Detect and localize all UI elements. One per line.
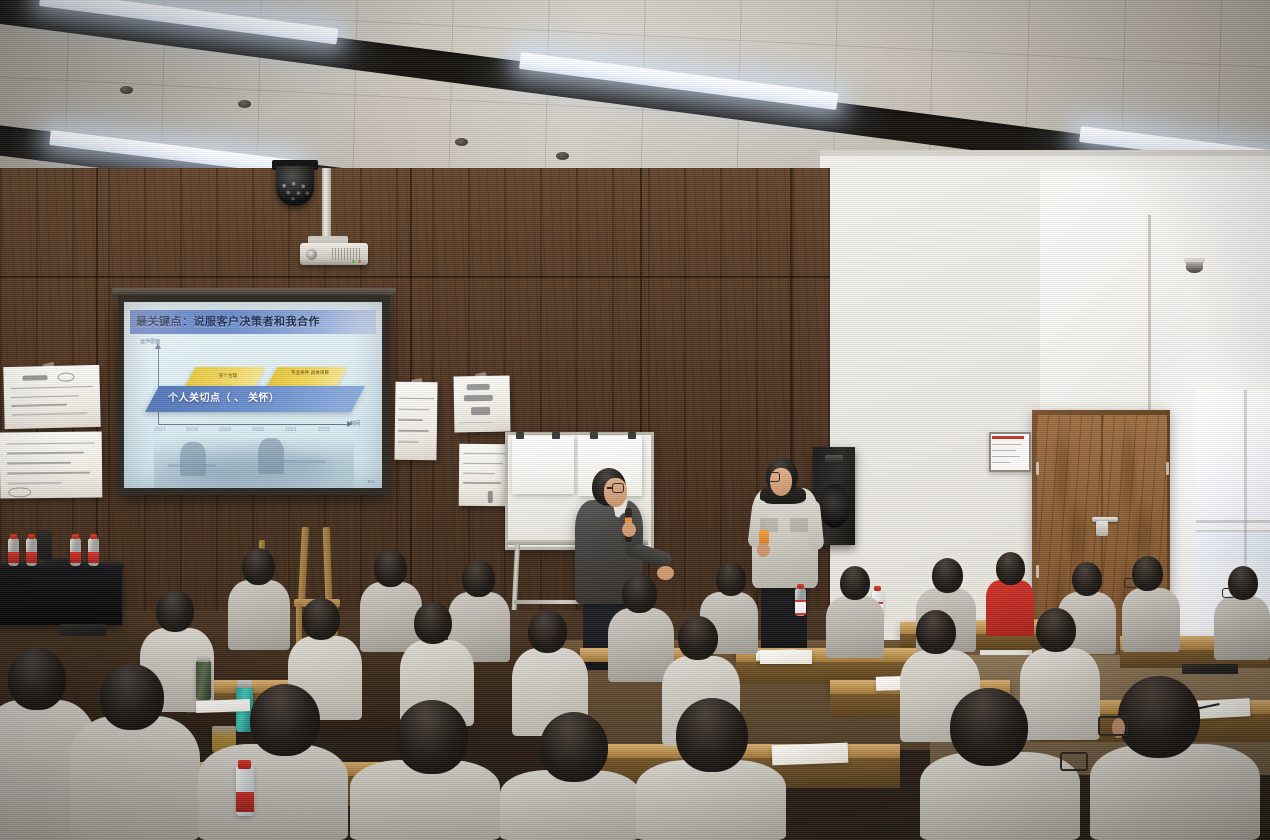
- whiteboard-sheet: [512, 436, 574, 494]
- audience-member: [1090, 744, 1260, 840]
- audience-member: [920, 752, 1080, 840]
- audience-head: [8, 648, 66, 710]
- projection-screen: 最关键点：说服客户决策者和我合作 运作层面 时间 2017 2018 2019 …: [124, 302, 382, 488]
- presenter-1-glasses: [612, 483, 624, 493]
- projector-vent: [332, 248, 362, 260]
- notice-line: [992, 450, 1016, 451]
- whiteboard-clip[interactable]: [628, 432, 636, 439]
- audience-head: [1118, 676, 1200, 758]
- front-table: [0, 565, 122, 625]
- thermos-cap: [197, 655, 210, 662]
- audience-member: [70, 716, 200, 840]
- slide-photo-chair: [280, 460, 326, 463]
- wall-trim: [820, 150, 1270, 156]
- speaker-woofer-icon: [819, 484, 850, 528]
- audience-head: [622, 574, 657, 613]
- audience-glasses: [1124, 578, 1137, 588]
- notebook[interactable]: [760, 650, 812, 664]
- audience-head: [932, 558, 963, 593]
- projector-status-led: [358, 260, 361, 263]
- bottle-label: [70, 552, 81, 563]
- chart-x-axis-label: 时间: [350, 420, 360, 427]
- thermos-cap: [237, 680, 252, 688]
- audience-head: [840, 566, 870, 600]
- projector-power-led: [352, 260, 355, 263]
- audience-head: [916, 610, 956, 654]
- audience-member: [198, 744, 348, 840]
- audience-member: [360, 582, 422, 652]
- audience-glasses: [1098, 716, 1128, 736]
- whiteboard-clip[interactable]: [590, 432, 598, 439]
- audience-head: [716, 562, 746, 596]
- list-item: [459, 444, 512, 506]
- list-item: [394, 382, 437, 461]
- bottle-cap: [238, 760, 251, 769]
- whiteboard-clip[interactable]: [516, 432, 524, 439]
- orange-marker[interactable]: [759, 530, 769, 544]
- audience-head: [242, 548, 275, 585]
- presenter-1-hand: [657, 566, 674, 580]
- bottle-cap: [10, 534, 17, 539]
- notice-line: [992, 444, 1022, 445]
- window-blind: [1196, 390, 1270, 532]
- audience-member: [1122, 588, 1180, 652]
- bottle-label: [8, 552, 19, 563]
- door-lock-plate: [1096, 521, 1108, 536]
- bottle-label: [236, 792, 254, 812]
- audience-head: [1072, 562, 1102, 596]
- audience-head: [462, 560, 495, 597]
- notebook[interactable]: [772, 743, 849, 766]
- audience-head: [414, 602, 452, 644]
- audience-head: [676, 698, 748, 772]
- microphone-stand: [38, 530, 52, 560]
- projector-lens-icon: [306, 249, 317, 260]
- chart-plate-label: 买个合理: [202, 373, 254, 379]
- led-ball-light-icon: [276, 166, 314, 206]
- window-mullion: [1196, 520, 1270, 523]
- audience-member-red-hoodie: [986, 580, 1034, 636]
- audience-head: [950, 688, 1028, 766]
- audience-member: [636, 760, 786, 840]
- audience-member: [1214, 596, 1270, 660]
- list-item: [3, 365, 100, 429]
- paper-stack: [196, 699, 250, 713]
- audience-glasses: [1060, 752, 1088, 771]
- audience-member: [1020, 648, 1100, 740]
- slide-photo-chair: [168, 464, 216, 467]
- presenter-2-glasses: [768, 472, 780, 482]
- thermos[interactable]: [196, 660, 211, 700]
- panel-seam: [0, 276, 830, 278]
- audience-head: [996, 552, 1025, 585]
- bottle-label: [795, 600, 806, 615]
- ceiling-downlight: [556, 152, 569, 160]
- chart-band-label: 个人关切点（ 、 关怀）: [168, 389, 368, 404]
- audience-head: [302, 598, 340, 640]
- audience-member: [826, 596, 884, 658]
- bottle-cap: [28, 534, 35, 539]
- slide-background-photo: [154, 430, 354, 488]
- projected-slide: 最关键点：说服客户决策者和我合作 运作层面 时间 2017 2018 2019 …: [124, 302, 382, 488]
- audience-head: [156, 590, 194, 632]
- ceiling-downlight: [238, 100, 251, 108]
- audience-head: [396, 700, 468, 774]
- audience-head: [528, 610, 567, 653]
- door-hinge: [1036, 462, 1039, 475]
- ceiling-downlight: [455, 138, 468, 146]
- bottle-label: [88, 552, 99, 563]
- ceiling-downlight: [120, 86, 133, 94]
- notebook-dark-cover[interactable]: [60, 624, 106, 636]
- notice-line: [992, 456, 1020, 457]
- presenter-2-pocket: [790, 518, 808, 532]
- audience-head: [374, 550, 407, 587]
- chart-plate-label: 专业条件 具体项目: [284, 370, 336, 376]
- audience-head: [100, 664, 164, 730]
- photo-scene: 最关键点：说服客户决策者和我合作 运作层面 时间 2017 2018 2019 …: [0, 0, 1270, 840]
- audience-head: [678, 616, 718, 660]
- slide-photo-figure: [258, 438, 284, 474]
- bottle-cap: [797, 584, 804, 589]
- slide-photo-figure: [180, 442, 206, 476]
- projector-pole: [322, 168, 331, 242]
- audience-glasses: [1222, 588, 1235, 598]
- bottle-cap: [874, 586, 881, 591]
- presenter-2-hand: [757, 543, 770, 557]
- slide-page-number: 8-3: [368, 479, 374, 484]
- dome-camera-icon: [1186, 262, 1203, 273]
- notice-line: [992, 462, 1010, 463]
- presenter-1-hand: [622, 522, 636, 537]
- notice-heading: [992, 436, 1024, 439]
- audience-head: [540, 712, 608, 782]
- audience-member: [608, 608, 674, 682]
- door-hinge: [1166, 462, 1169, 475]
- slide-title: 最关键点：说服客户决策者和我合作: [136, 313, 376, 329]
- bottle-cap: [72, 534, 79, 539]
- speaker-tweeter-icon: [825, 455, 843, 464]
- list-item: [454, 376, 511, 433]
- list-item: [0, 431, 102, 498]
- audience-head: [1036, 608, 1076, 652]
- slide-chart: 运作层面 时间 2017 2018 2019 2020 2021 2022 买个…: [124, 334, 382, 488]
- bottle-label: [26, 552, 37, 563]
- notebook-dark-cover[interactable]: [1182, 664, 1238, 674]
- audience-member: [228, 580, 290, 650]
- bottle-cap: [90, 534, 97, 539]
- chart-x-axis: [158, 424, 348, 425]
- presenter-1-glasses-arm: [607, 487, 613, 489]
- audience-head: [250, 684, 320, 756]
- door-hinge: [1036, 565, 1039, 578]
- whiteboard-clip[interactable]: [552, 432, 560, 439]
